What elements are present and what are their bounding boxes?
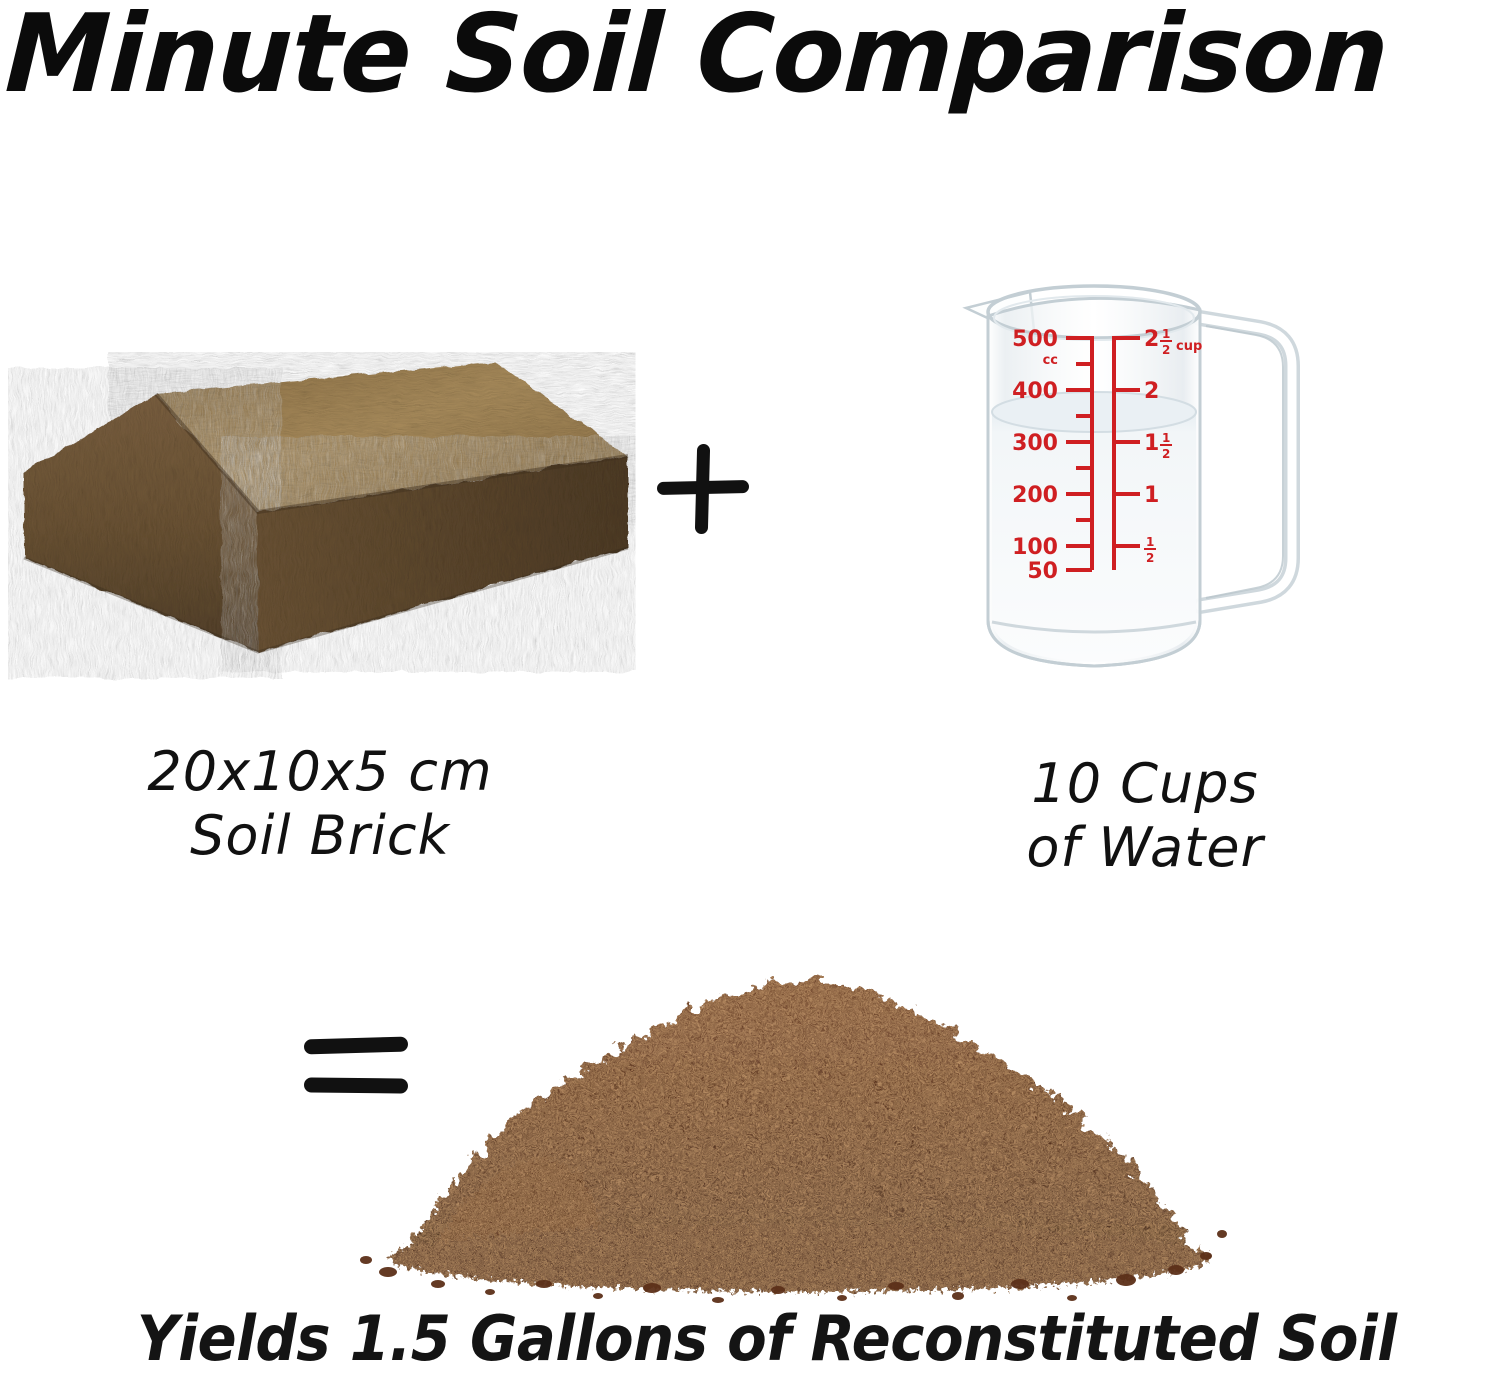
metric-unit-label: cc [1043,353,1058,368]
metric-mark-300: 300 [1012,431,1058,456]
imperial-mark-whole-2: 1 [1144,431,1159,456]
imperial-unit-label: cup [1176,339,1202,354]
plus-operator-icon [655,440,751,536]
yield-caption: Yields 1.5 Gallons of Reconstituted Soil [137,1300,1383,1380]
brick-caption: 20x10x5 cm Soil Brick [40,740,600,868]
metric-mark-200: 200 [1012,483,1058,508]
infographic-canvas: Minute Soil Comparison [0,0,1500,1379]
imperial-mark-den-4: 2 [1146,551,1154,565]
imperial-mark-num-0: 1 [1162,327,1170,341]
imperial-mark-num-2: 1 [1162,431,1170,445]
soil-brick-image [8,352,648,682]
imperial-mark-whole-3: 1 [1144,483,1159,508]
measuring-cup-image: 500 cc 400 300 200 100 50 2 1 2 cup 2 1 [900,270,1380,680]
soil-base-spread [390,1224,1210,1292]
imperial-mark-den-2: 2 [1162,447,1170,461]
page-title: Minute Soil Comparison [3,0,1445,114]
metric-mark-400: 400 [1012,379,1058,404]
imperial-mark-num-4: 1 [1146,535,1154,549]
metric-mark-100: 100 [1012,535,1058,560]
soil-pile-image [330,860,1230,1310]
metric-mark-500: 500 [1012,327,1058,352]
cup-handle [1200,318,1292,606]
metric-mark-50: 50 [1027,559,1058,584]
imperial-mark-whole-1: 2 [1144,379,1159,404]
imperial-mark-den-0: 2 [1162,343,1170,357]
imperial-mark-whole-0: 2 [1144,327,1159,352]
